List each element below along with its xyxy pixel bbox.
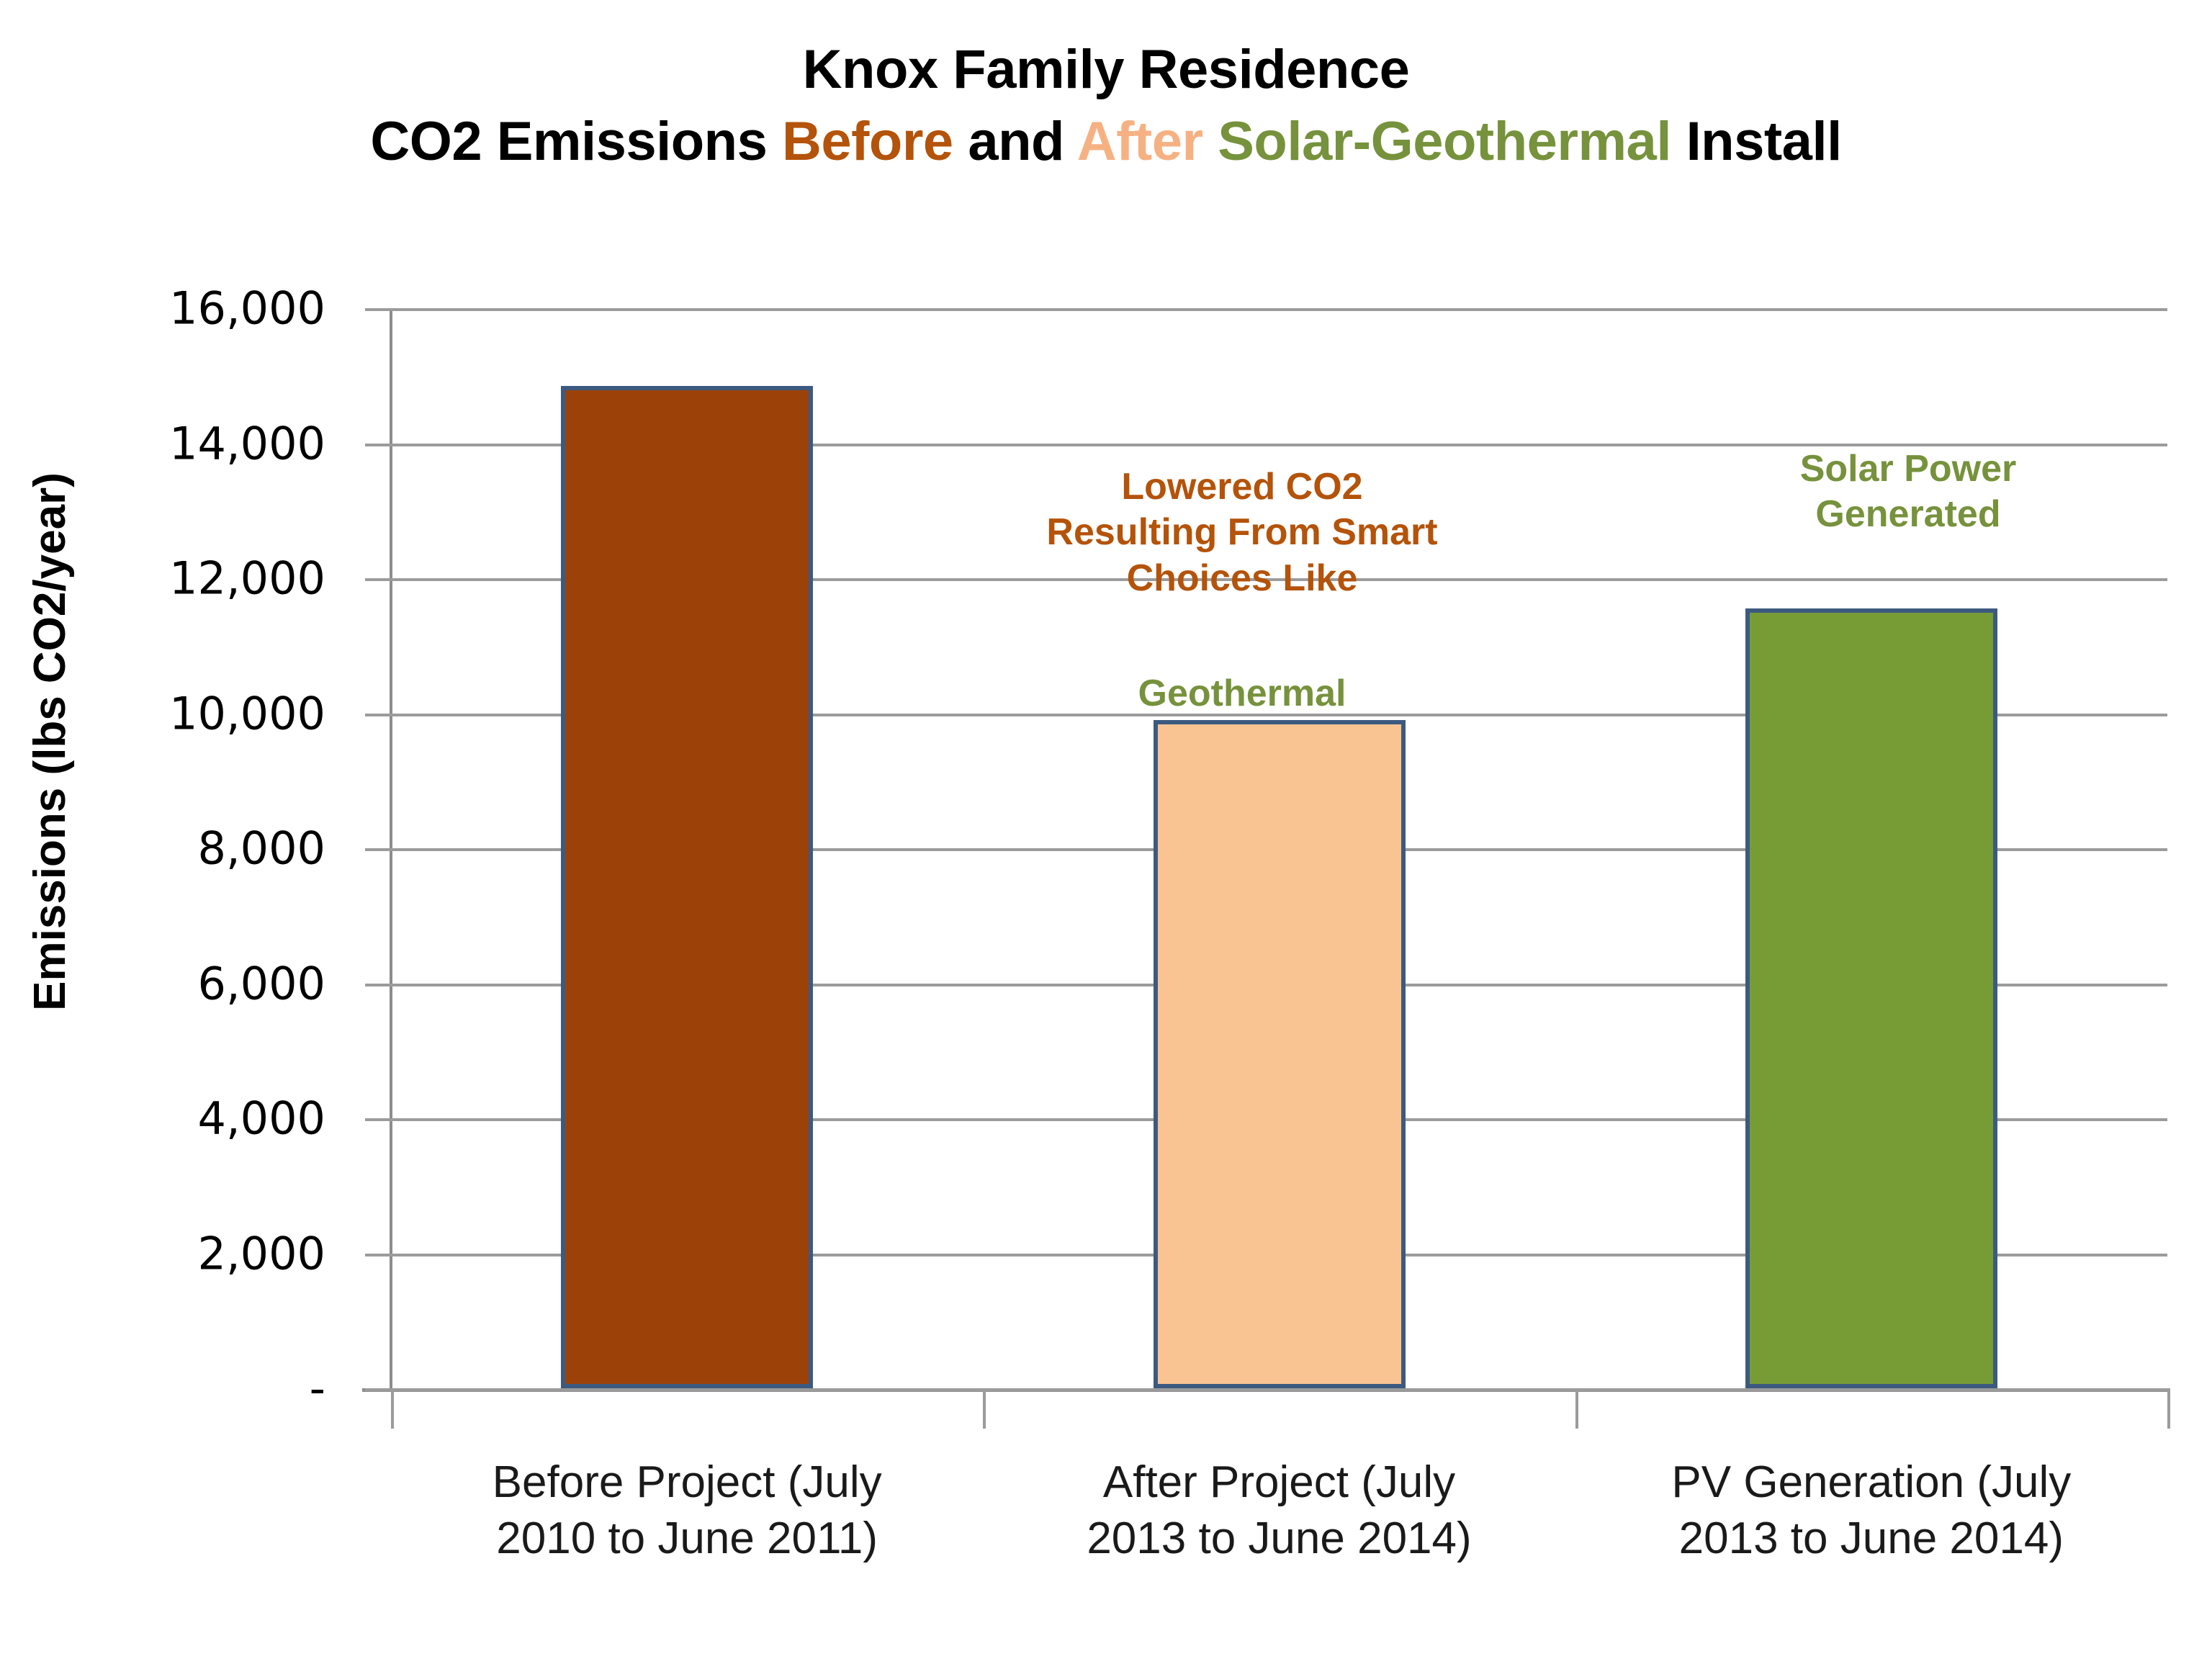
y-axis-tick xyxy=(365,1254,391,1256)
gridline xyxy=(391,1388,2167,1391)
y-axis-tick-labels: 16,00014,00012,00010,0008,0006,0004,0002… xyxy=(0,308,360,1403)
y-axis-tick xyxy=(365,848,391,851)
y-axis-tick-label: 2,000 xyxy=(9,1227,325,1280)
annotation-geothermal: Geothermal xyxy=(976,671,1509,716)
bar-after[interactable] xyxy=(1154,720,1406,1388)
y-axis-tick-label: 12,000 xyxy=(9,552,325,605)
x-axis-category-label: Before Project (July 2010 to June 2011) xyxy=(391,1455,983,1566)
x-axis-category-label: PV Generation (July 2013 to June 2014) xyxy=(1575,1455,2167,1566)
chart-title-subtitle: CO2 Emissions Before and After Solar-Geo… xyxy=(0,114,2212,170)
title-sub-solargeo: Solar-Geothermal xyxy=(1218,111,1671,172)
x-axis-tick xyxy=(1575,1388,1578,1429)
title-sub-after: After xyxy=(1077,111,1203,172)
y-axis-tick xyxy=(365,984,391,986)
title-sub-and: and xyxy=(953,111,1077,172)
y-axis-tick-label: 14,000 xyxy=(9,417,325,469)
annotation-lowered-co2: Lowered CO2 Resulting From Smart Choices… xyxy=(976,464,1509,601)
y-axis-tick xyxy=(365,1118,391,1121)
y-axis-tick-label: 8,000 xyxy=(9,822,325,875)
chart-container: Knox Family Residence CO2 Emissions Befo… xyxy=(0,0,2212,1659)
title-sub-install: Install xyxy=(1671,111,1842,172)
y-axis-tick xyxy=(365,1388,391,1391)
y-axis-tick-label: - xyxy=(9,1362,325,1415)
title-sub-co2: CO2 Emissions xyxy=(370,111,782,172)
y-axis-tick-label: 10,000 xyxy=(9,687,325,739)
bar-before[interactable] xyxy=(561,386,813,1388)
y-axis-tick xyxy=(365,308,391,311)
x-axis-tick xyxy=(983,1388,986,1429)
annotation-solar-power: Solar Power Generated xyxy=(1656,446,2160,538)
x-axis-category-label: After Project (July 2013 to June 2014) xyxy=(983,1455,1575,1566)
x-axis-tick xyxy=(2167,1388,2170,1429)
chart-title-block: Knox Family Residence CO2 Emissions Befo… xyxy=(0,42,2212,169)
y-axis-tick xyxy=(365,578,391,581)
y-axis-tick xyxy=(365,444,391,446)
title-sub-before: Before xyxy=(782,111,953,172)
y-axis-tick-label: 4,000 xyxy=(9,1092,325,1145)
x-axis-category-labels: Before Project (July 2010 to June 2011)A… xyxy=(391,1455,2167,1627)
bar-pv[interactable] xyxy=(1745,608,1997,1388)
title-sub-space xyxy=(1203,111,1218,172)
y-axis-tick-label: 6,000 xyxy=(9,957,325,1010)
gridline xyxy=(391,308,2167,311)
chart-title-main: Knox Family Residence xyxy=(0,42,2212,98)
y-axis-tick xyxy=(365,714,391,716)
y-axis-tick-label: 16,000 xyxy=(9,282,325,335)
x-axis-tick xyxy=(391,1388,394,1429)
